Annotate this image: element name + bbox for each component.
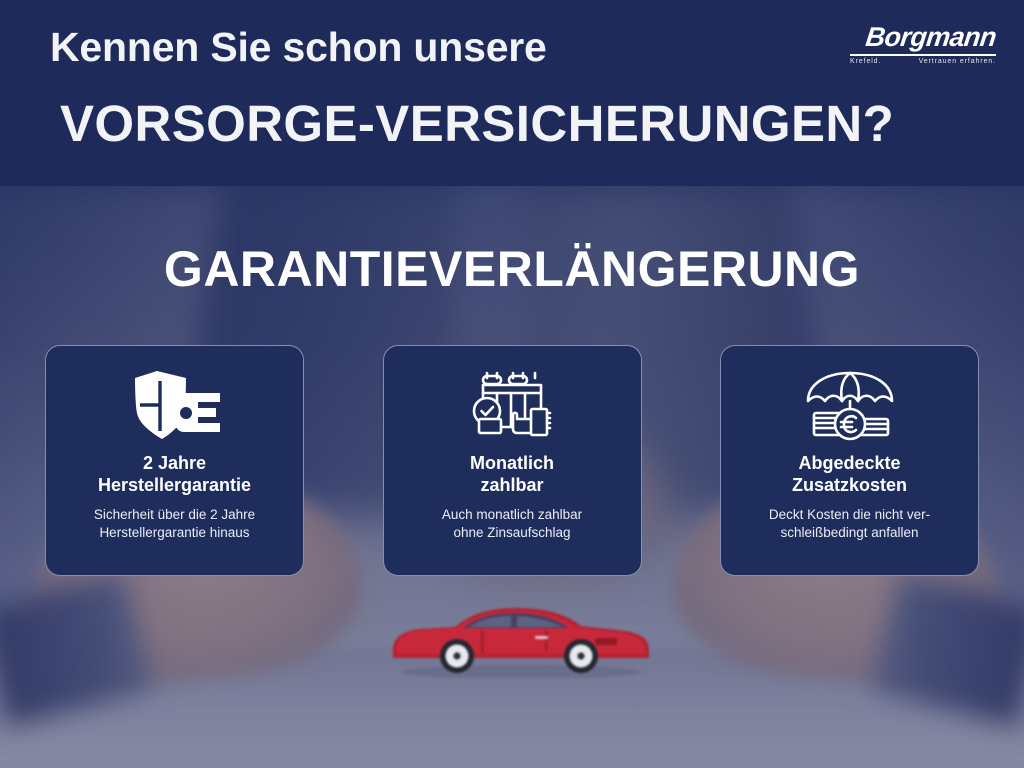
feature-card-list: 2 Jahre Herstellergarantie Sicherheit üb… xyxy=(45,345,979,576)
feature-card-title: Monatlich zahlbar xyxy=(470,453,554,497)
logo-tagline: Krefeld. Vertrauen erfahren. xyxy=(850,58,996,65)
red-model-car xyxy=(385,598,657,678)
feature-card-monthly-payment[interactable]: Monatlich zahlbar Auch monatlich zahlbar… xyxy=(383,345,642,576)
feature-card-title: Abgedeckte Zusatzkosten xyxy=(792,453,907,497)
feature-card-description: Sicherheit über die 2 Jahre Herstellerga… xyxy=(94,506,255,542)
feature-card-extra-costs[interactable]: Abgedeckte Zusatzkosten Deckt Kosten die… xyxy=(720,345,979,576)
feature-card-title-line2: zahlbar xyxy=(480,475,543,495)
feature-card-description: Auch monatlich zahlbar ohne Zinsaufschla… xyxy=(442,506,582,542)
feature-card-warranty[interactable]: 2 Jahre Herstellergarantie Sicherheit üb… xyxy=(45,345,304,576)
page-title: GARANTIEVERLÄNGERUNG xyxy=(0,240,1024,298)
shield-car-icon xyxy=(124,368,226,444)
poster-canvas: Kennen Sie schon unsere VORSORGE-VERSICH… xyxy=(0,0,1024,768)
feature-card-title-line2: Herstellergarantie xyxy=(98,475,251,495)
feature-card-title: 2 Jahre Herstellergarantie xyxy=(98,453,251,497)
feature-card-desc-line2: schleißbedingt anfallen xyxy=(780,525,918,540)
logo-tagline-city: Krefeld. xyxy=(850,58,881,65)
header-band: Kennen Sie schon unsere VORSORGE-VERSICH… xyxy=(0,0,1024,186)
feature-card-desc-line1: Auch monatlich zahlbar xyxy=(442,507,582,522)
calendar-check-payment-icon xyxy=(469,368,555,444)
feature-card-title-line1: Monatlich xyxy=(470,453,554,473)
feature-card-desc-line2: Herstellergarantie hinaus xyxy=(99,525,249,540)
borgmann-logo[interactable]: Borgmann Krefeld. Vertrauen erfahren. xyxy=(850,24,996,65)
feature-card-title-line2: Zusatzkosten xyxy=(792,475,907,495)
feature-card-desc-line1: Deckt Kosten die nicht ver- xyxy=(769,507,930,522)
feature-card-description: Deckt Kosten die nicht ver- schleißbedin… xyxy=(769,506,930,542)
logo-divider xyxy=(850,54,996,56)
feature-card-title-line1: 2 Jahre xyxy=(143,453,206,473)
header-headline-line2: VORSORGE-VERSICHERUNGEN? xyxy=(60,94,894,153)
logo-tagline-slogan: Vertrauen erfahren. xyxy=(919,58,996,65)
feature-card-title-line1: Abgedeckte xyxy=(798,453,900,473)
umbrella-euro-coins-icon xyxy=(804,368,896,444)
logo-wordmark: Borgmann xyxy=(848,24,997,51)
header-headline-line1: Kennen Sie schon unsere xyxy=(50,24,547,71)
feature-card-desc-line2: ohne Zinsaufschlag xyxy=(453,525,570,540)
feature-card-desc-line1: Sicherheit über die 2 Jahre xyxy=(94,507,255,522)
